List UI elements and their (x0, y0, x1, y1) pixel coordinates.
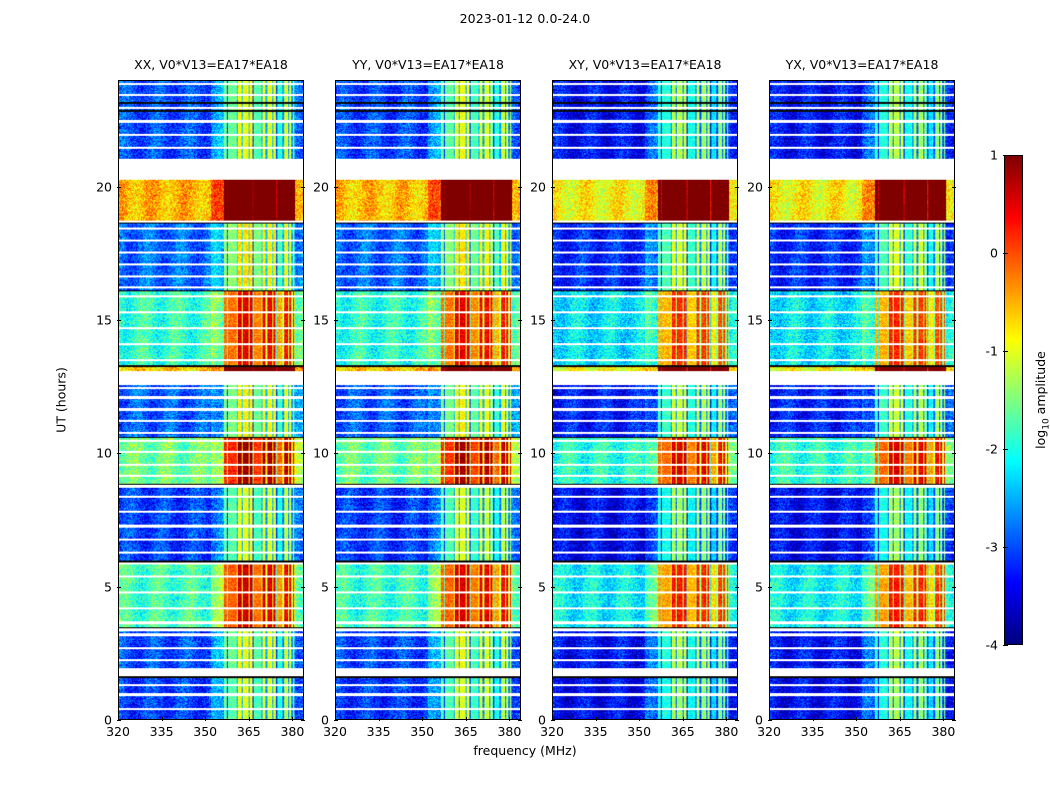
y-tick (551, 187, 555, 188)
x-tick (683, 717, 684, 721)
colorbar-tick (1003, 645, 1008, 646)
y-tick-label: 0 (104, 713, 112, 728)
colorbar-tick (1003, 547, 1008, 548)
y-tick (735, 320, 739, 321)
colorbar-label-prefix: log (1033, 430, 1048, 449)
y-tick-label: 0 (755, 713, 763, 728)
waterfall-image-yx (770, 81, 954, 719)
y-tick-label: 20 (530, 179, 546, 194)
x-tick (422, 717, 423, 721)
x-tick-label: 365 (888, 724, 912, 739)
y-tick-label: 5 (104, 579, 112, 594)
y-tick (301, 320, 305, 321)
y-tick (551, 587, 555, 588)
colorbar-tick (1003, 253, 1008, 254)
y-tick (518, 720, 522, 721)
y-tick (334, 587, 338, 588)
y-tick (768, 587, 772, 588)
y-tick (334, 320, 338, 321)
panel-title-yy: YY, V0*V13=EA17*EA18 (352, 57, 504, 72)
x-tick (900, 717, 901, 721)
colorbar-label: log10 amplitude (1033, 351, 1050, 449)
y-tick (551, 320, 555, 321)
x-tick-label: 335 (584, 724, 608, 739)
y-tick-label: 5 (321, 579, 329, 594)
y-tick (518, 453, 522, 454)
x-tick (596, 717, 597, 721)
y-tick-label: 20 (747, 179, 763, 194)
x-axis-label: frequency (MHz) (0, 743, 1050, 758)
y-tick (518, 587, 522, 588)
y-tick (518, 320, 522, 321)
y-tick (768, 720, 772, 721)
figure-canvas: 2023-01-12 0.0-24.0 XX, V0*V13=EA17*EA18… (0, 0, 1050, 800)
x-tick-label: 365 (671, 724, 695, 739)
panel-title-xx: XX, V0*V13=EA17*EA18 (134, 57, 288, 72)
y-tick-label: 15 (747, 313, 763, 328)
y-tick-label: 15 (530, 313, 546, 328)
x-tick-label: 335 (150, 724, 174, 739)
y-tick-label: 10 (96, 446, 112, 461)
x-tick (943, 717, 944, 721)
x-tick (856, 717, 857, 721)
x-tick (205, 717, 206, 721)
y-tick (735, 587, 739, 588)
colorbar-tick-label: 1 (990, 148, 998, 163)
y-tick (952, 587, 956, 588)
x-tick-label: 350 (410, 724, 434, 739)
y-tick (952, 453, 956, 454)
colorbar-tick-label: -2 (986, 442, 998, 457)
colorbar-tick (1003, 351, 1008, 352)
colorbar-label-sub: 10 (1041, 418, 1050, 429)
panel-xx[interactable]: XX, V0*V13=EA17*EA1832033535036538005101… (118, 80, 304, 720)
panel-yx[interactable]: YX, V0*V13=EA17*EA1832033535036538005101… (769, 80, 955, 720)
y-tick (768, 320, 772, 321)
x-tick (726, 717, 727, 721)
colorbar-gradient (1004, 155, 1023, 645)
figure-suptitle: 2023-01-12 0.0-24.0 (0, 11, 1050, 26)
panel-title-yx: YX, V0*V13=EA17*EA18 (786, 57, 939, 72)
y-tick (334, 453, 338, 454)
y-axis-label: UT (hours) (54, 367, 69, 433)
colorbar-tick-label: -4 (986, 638, 998, 653)
waterfall-image-xy (553, 81, 737, 719)
colorbar-tick-label: -3 (986, 540, 998, 555)
y-tick (334, 187, 338, 188)
y-tick-label: 10 (530, 446, 546, 461)
x-tick-label: 350 (627, 724, 651, 739)
axes-xx[interactable] (118, 80, 304, 720)
y-tick (117, 587, 121, 588)
x-tick-label: 335 (367, 724, 391, 739)
y-tick (952, 320, 956, 321)
y-tick-label: 0 (321, 713, 329, 728)
y-tick (952, 187, 956, 188)
y-tick-label: 10 (313, 446, 329, 461)
y-tick (301, 453, 305, 454)
y-tick (518, 187, 522, 188)
y-tick-label: 15 (96, 313, 112, 328)
y-tick (334, 720, 338, 721)
x-tick (292, 717, 293, 721)
x-tick-label: 365 (237, 724, 261, 739)
panel-yy[interactable]: YY, V0*V13=EA17*EA1832033535036538005101… (335, 80, 521, 720)
y-tick (117, 320, 121, 321)
x-tick-label: 380 (497, 724, 521, 739)
colorbar: -4-3-2-101 (1004, 155, 1023, 645)
x-tick-label: 350 (844, 724, 868, 739)
y-tick-label: 5 (755, 579, 763, 594)
y-tick (301, 187, 305, 188)
colorbar-label-suffix: amplitude (1033, 351, 1048, 418)
y-tick (301, 720, 305, 721)
y-tick (117, 453, 121, 454)
x-tick (379, 717, 380, 721)
colorbar-tick-label: 0 (990, 246, 998, 261)
axes-yx[interactable] (769, 80, 955, 720)
colorbar-canvas (1005, 156, 1022, 644)
colorbar-tick-label: -1 (986, 344, 998, 359)
panel-xy[interactable]: XY, V0*V13=EA17*EA1832033535036538005101… (552, 80, 738, 720)
y-tick (117, 187, 121, 188)
x-tick-label: 380 (714, 724, 738, 739)
y-tick (735, 187, 739, 188)
colorbar-tick (1003, 449, 1008, 450)
axes-xy[interactable] (552, 80, 738, 720)
y-tick-label: 15 (313, 313, 329, 328)
y-tick (551, 720, 555, 721)
x-tick (466, 717, 467, 721)
y-tick (768, 453, 772, 454)
x-tick-label: 365 (454, 724, 478, 739)
waterfall-image-xx (119, 81, 303, 719)
y-tick (735, 453, 739, 454)
x-tick (813, 717, 814, 721)
y-tick (952, 720, 956, 721)
x-tick-label: 380 (280, 724, 304, 739)
y-tick (551, 453, 555, 454)
colorbar-tick (1003, 155, 1008, 156)
y-tick (735, 720, 739, 721)
y-tick (117, 720, 121, 721)
axes-yy[interactable] (335, 80, 521, 720)
y-tick-label: 5 (538, 579, 546, 594)
y-tick-label: 20 (96, 179, 112, 194)
x-tick-label: 335 (801, 724, 825, 739)
x-tick (509, 717, 510, 721)
y-tick (301, 587, 305, 588)
y-tick (768, 187, 772, 188)
x-tick (639, 717, 640, 721)
x-tick-label: 380 (931, 724, 955, 739)
x-tick (162, 717, 163, 721)
y-tick-label: 20 (313, 179, 329, 194)
x-tick (249, 717, 250, 721)
y-tick-label: 10 (747, 446, 763, 461)
x-tick-label: 350 (193, 724, 217, 739)
y-tick-label: 0 (538, 713, 546, 728)
panel-title-xy: XY, V0*V13=EA17*EA18 (569, 57, 722, 72)
waterfall-image-yy (336, 81, 520, 719)
